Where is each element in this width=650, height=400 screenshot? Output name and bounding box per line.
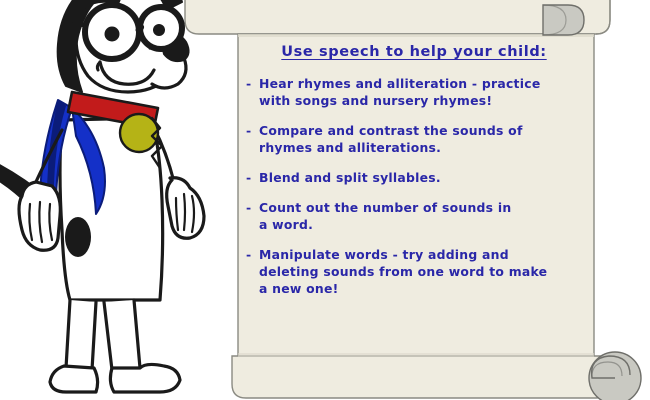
scroll-roll-top-right (543, 5, 584, 35)
dog-right-foot (110, 364, 180, 392)
bullet-marker: - (246, 246, 259, 263)
bullet-marker: - (246, 199, 259, 216)
scroll-content: Use speech to help your child: - Hear rh… (238, 36, 590, 366)
scroll-roll-bottom-right (589, 352, 641, 400)
dog-glasses-bridge (138, 27, 142, 30)
bullet-item-count-sounds: - Count out the number of sounds in a wo… (246, 199, 582, 233)
bullet-text: Count out the number of sounds in a word… (259, 199, 582, 233)
scroll-title: Use speech to help your child: (238, 44, 590, 60)
bullet-item-manipulate-words: - Manipulate words - try adding and dele… (246, 246, 582, 297)
bullet-marker: - (246, 169, 259, 186)
bullet-text: Hear rhymes and alliteration - practice … (259, 75, 582, 109)
dog-left-eye (105, 27, 120, 42)
dog-body-spot (65, 217, 91, 257)
dog-glasses-temple (70, 24, 86, 26)
scroll-top-band (185, 0, 610, 34)
dog-left-leg (66, 300, 96, 370)
bullet-item-compare-contrast: - Compare and contrast the sounds of rhy… (246, 122, 582, 156)
bullet-item-blend-split: - Blend and split syllables. (246, 169, 582, 186)
dog-right-leg (104, 300, 140, 370)
scroll-band-right-edge (596, 0, 610, 34)
bullet-text: Blend and split syllables. (259, 169, 582, 186)
dog-left-foot (50, 366, 98, 392)
bullet-text: Compare and contrast the sounds of rhyme… (259, 122, 582, 156)
bullet-marker: - (246, 122, 259, 139)
dog-right-eye (153, 24, 165, 36)
advice-bullet-list: - Hear rhymes and alliteration - practic… (238, 75, 590, 297)
bullet-item-hear-rhymes: - Hear rhymes and alliteration - practic… (246, 75, 582, 109)
cartoon-dog-illustration (0, 0, 230, 400)
bullet-text: Manipulate words - try adding and deleti… (259, 246, 582, 297)
bullet-marker: - (246, 75, 259, 92)
screenshot-root: Use speech to help your child: - Hear rh… (0, 0, 650, 400)
